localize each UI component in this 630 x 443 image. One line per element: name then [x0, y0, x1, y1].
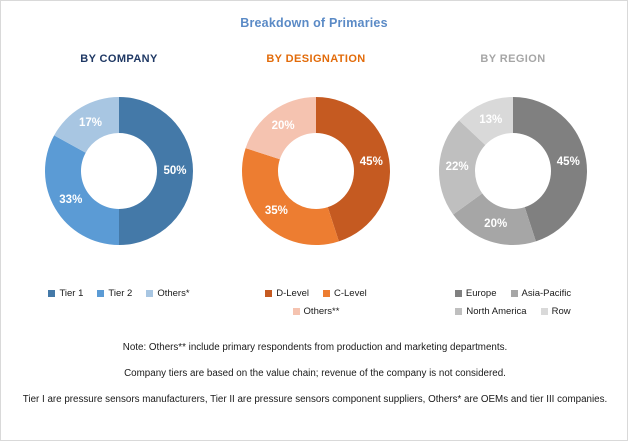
legend-row: North AmericaRow	[413, 306, 613, 317]
legend-swatch-icon	[541, 308, 548, 315]
legend-swatch-icon	[455, 308, 462, 315]
legend-row: Others**	[216, 306, 416, 317]
legend-label: Asia-Pacific	[522, 288, 572, 299]
legend-label: C-Level	[334, 288, 367, 299]
legend-label: Others*	[157, 288, 189, 299]
donut-chart-company: 50%33%17%	[39, 91, 199, 251]
panel-by-company: BY COMPANY 50%33%17%	[19, 53, 219, 251]
legend-item[interactable]: D-Level	[265, 288, 309, 299]
legend-swatch-icon	[265, 290, 272, 297]
legend-item[interactable]: Tier 1	[48, 288, 83, 299]
panel-by-designation: BY DESIGNATION 45%35%20%	[216, 53, 416, 251]
legend-item[interactable]: Others**	[293, 306, 340, 317]
legend-label: Row	[552, 306, 571, 317]
legend-item[interactable]: Row	[541, 306, 571, 317]
panel-heading-company: BY COMPANY	[19, 53, 219, 69]
legend-item[interactable]: Tier 2	[97, 288, 132, 299]
legend-item[interactable]: North America	[455, 306, 526, 317]
legend-company: Tier 1Tier 2Others*	[19, 288, 219, 306]
legend-swatch-icon	[48, 290, 55, 297]
footnote-company-tiers: Company tiers are based on the value cha…	[13, 367, 617, 380]
panel-heading-region: BY REGION	[413, 53, 613, 69]
legend-item[interactable]: Europe	[455, 288, 497, 299]
footnote-tier-definitions: Tier I are pressure sensors manufacturer…	[13, 393, 617, 406]
legend-row: D-LevelC-Level	[216, 288, 416, 299]
footnotes: Note: Others** include primary responden…	[13, 341, 617, 419]
panel-by-region: BY REGION 45%20%22%13%	[413, 53, 613, 251]
donut-chart-designation: 45%35%20%	[236, 91, 396, 251]
panel-heading-designation: BY DESIGNATION	[216, 53, 416, 69]
legend-label: North America	[466, 306, 526, 317]
legend-swatch-icon	[511, 290, 518, 297]
legend-label: D-Level	[276, 288, 309, 299]
legend-region: EuropeAsia-PacificNorth AmericaRow	[413, 288, 613, 324]
donut-slice	[242, 148, 339, 245]
legend-item[interactable]: Asia-Pacific	[511, 288, 572, 299]
legend-swatch-icon	[455, 290, 462, 297]
donut-chart-region: 45%20%22%13%	[433, 91, 593, 251]
legend-swatch-icon	[97, 290, 104, 297]
legend-label: Others**	[304, 306, 340, 317]
chart-figure: Breakdown of Primaries BY COMPANY 50%33%…	[0, 0, 628, 441]
legend-label: Tier 2	[108, 288, 132, 299]
legend-label: Europe	[466, 288, 497, 299]
legend-item[interactable]: C-Level	[323, 288, 367, 299]
page-title: Breakdown of Primaries	[1, 16, 627, 30]
donut-slice	[119, 97, 193, 245]
legend-label: Tier 1	[59, 288, 83, 299]
legend-swatch-icon	[293, 308, 300, 315]
donut-slice	[246, 97, 316, 159]
legend-item[interactable]: Others*	[146, 288, 189, 299]
legend-designation: D-LevelC-LevelOthers**	[216, 288, 416, 324]
footnote-others-definition: Note: Others** include primary responden…	[13, 341, 617, 354]
donut-slice	[45, 135, 119, 245]
legend-row: Tier 1Tier 2Others*	[19, 288, 219, 299]
legend-swatch-icon	[323, 290, 330, 297]
legend-swatch-icon	[146, 290, 153, 297]
legend-row: EuropeAsia-Pacific	[413, 288, 613, 299]
